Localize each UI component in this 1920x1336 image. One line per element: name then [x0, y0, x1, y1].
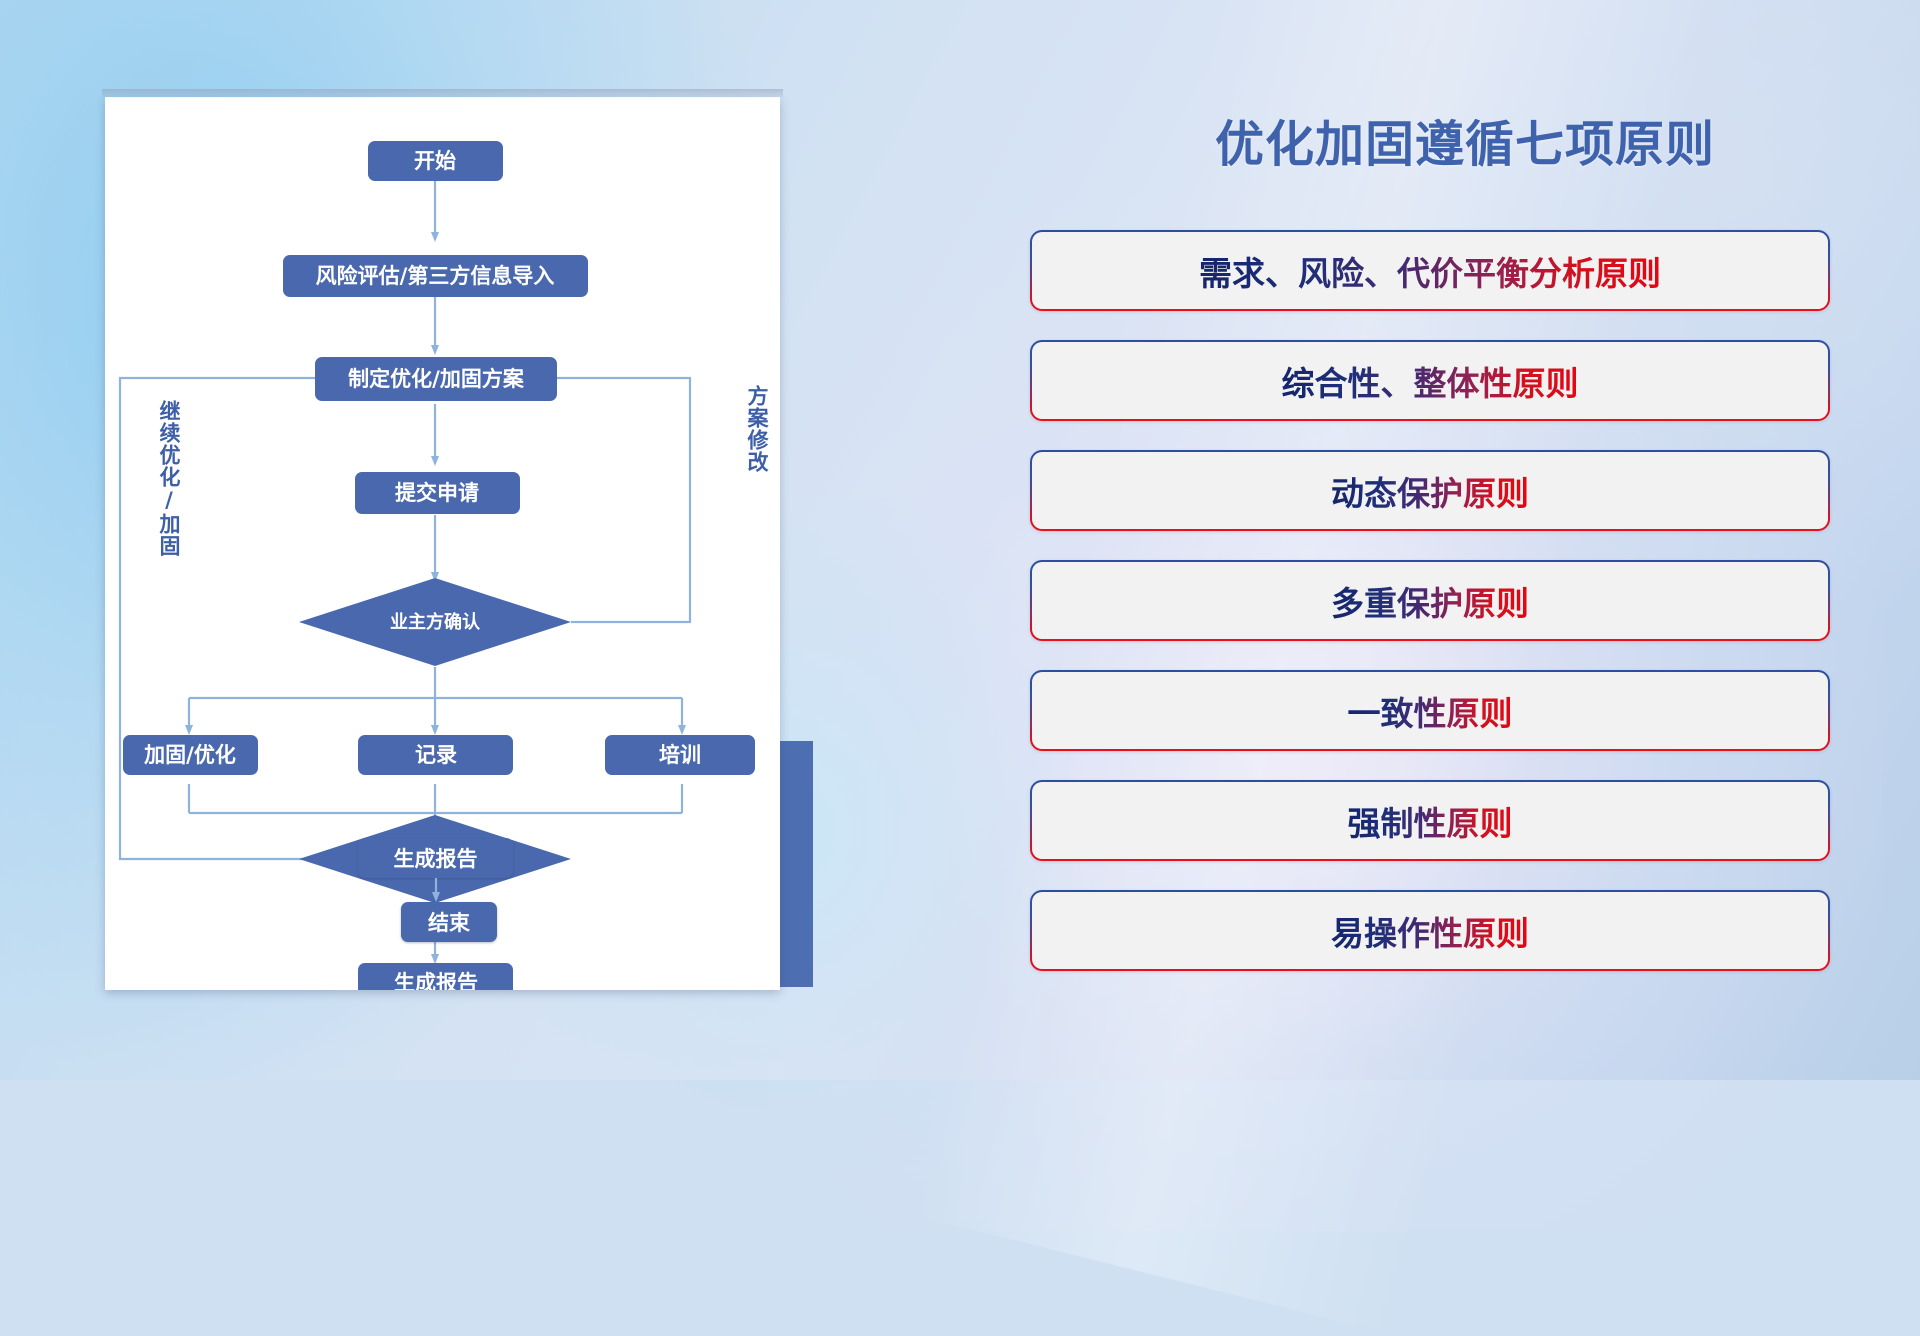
- principles-list: 需求、风险、代价平衡分析原则 综合性、整体性原则 动态保护原则 多重保护原则 一…: [1030, 230, 1830, 1000]
- principle-label: 需求、风险、代价平衡分析原则: [1199, 247, 1661, 295]
- flowchart-panel: 开始 风险评估/第三方信息导入 制定优化/加固方案 提交申请 业主方确认: [0, 0, 840, 1080]
- principle-label: 强制性原则: [1348, 797, 1513, 845]
- flow-label-right-loop: 方案修改: [728, 385, 768, 473]
- principle-item[interactable]: 多重保护原则: [1030, 560, 1830, 641]
- principle-item[interactable]: 动态保护原则: [1030, 450, 1830, 531]
- principle-item[interactable]: 强制性原则: [1030, 780, 1830, 861]
- principle-item[interactable]: 综合性、整体性原则: [1030, 340, 1830, 421]
- flow-connectors-tail: [105, 97, 780, 990]
- principle-label: 易操作性原则: [1331, 907, 1529, 955]
- principle-label: 一致性原则: [1348, 687, 1513, 735]
- principle-item[interactable]: 一致性原则: [1030, 670, 1830, 751]
- principles-panel: 优化加固遵循七项原则 需求、风险、代价平衡分析原则 综合性、整体性原则 动态保护…: [1010, 0, 1920, 1080]
- panel-title: 优化加固遵循七项原则: [1010, 105, 1920, 176]
- principle-item[interactable]: 易操作性原则: [1030, 890, 1830, 971]
- principle-label: 动态保护原则: [1331, 467, 1529, 515]
- principle-item[interactable]: 需求、风险、代价平衡分析原则: [1030, 230, 1830, 311]
- flow-label-left-loop: 继续优化/加固: [140, 400, 180, 557]
- principle-label: 多重保护原则: [1331, 577, 1529, 625]
- principle-label: 综合性、整体性原则: [1282, 357, 1579, 405]
